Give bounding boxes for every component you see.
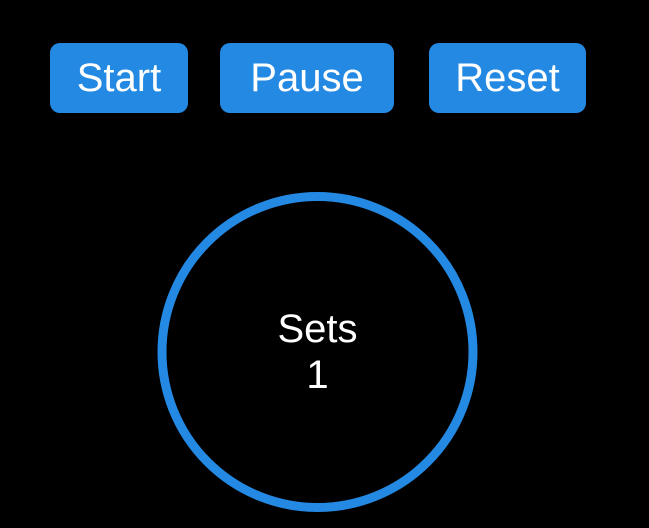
pause-button[interactable]: Pause	[220, 43, 394, 113]
progress-circle-icon	[157, 192, 478, 512]
start-button[interactable]: Start	[50, 43, 188, 113]
progress-ring-track	[162, 197, 473, 508]
reset-button[interactable]: Reset	[429, 43, 586, 113]
control-button-row: Start Pause Reset	[50, 43, 586, 113]
sets-progress-ring[interactable]: Sets 1	[157, 192, 478, 512]
button-spacer-2	[394, 43, 429, 113]
button-spacer-1	[188, 43, 220, 113]
timer-app-root: Start Pause Reset Sets 1	[0, 0, 649, 528]
